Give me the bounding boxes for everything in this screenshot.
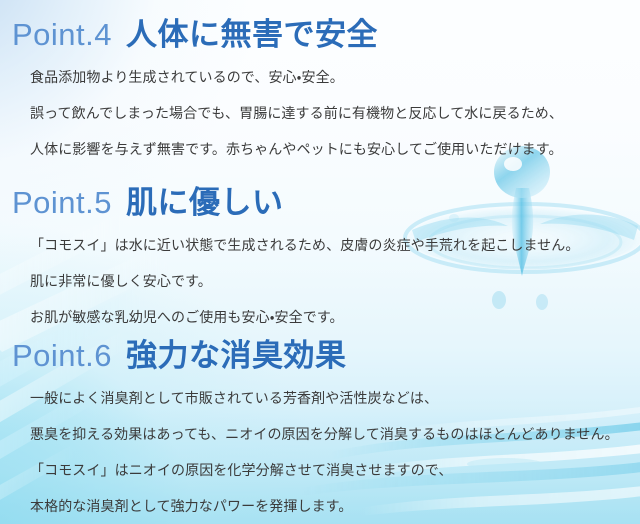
section-point5-body: 「コモスイ」は水に近い状態で生成されるため、皮膚の炎症や手荒れを起こしません。 … [0, 234, 640, 328]
section-point5-heading: Point.5 肌に優しい [0, 186, 640, 220]
section-point6-title: 強力な消臭効果 [126, 339, 347, 373]
body-line: 「コモスイ」はニオイの原因を化学分解させて消臭させますので、 [30, 459, 640, 481]
section-point6-body: 一般によく消臭剤として市販されている芳香剤や活性炭などは、 悪臭を抑える効果はあ… [0, 387, 640, 524]
content-root: Point.4 人体に無害で安全 食品添加物より生成されているので、安心・安全。… [0, 0, 640, 524]
section-point4-heading: Point.4 人体に無害で安全 [0, 18, 640, 52]
section-point6: Point.6 強力な消臭効果 一般によく消臭剤として市販されている芳香剤や活性… [0, 339, 640, 524]
section-point5: Point.5 肌に優しい 「コモスイ」は水に近い状態で生成されるため、皮膚の炎… [0, 186, 640, 342]
section-point4-title: 人体に無害で安全 [126, 18, 378, 52]
section-point6-label: Point.6 [12, 339, 112, 373]
body-line: 人体に影響を与えず無害です。赤ちゃんやペットにも安心してご使用いただけます。 [30, 138, 640, 160]
body-line: 誤って飲んでしまった場合でも、胃腸に達する前に有機物と反応して水に戻るため、 [30, 102, 640, 124]
section-point4: Point.4 人体に無害で安全 食品添加物より生成されているので、安心・安全。… [0, 18, 640, 174]
page-root: Point.4 人体に無害で安全 食品添加物より生成されているので、安心・安全。… [0, 0, 640, 524]
body-line: 食品添加物より生成されているので、安心・安全。 [30, 66, 640, 88]
body-line: 肌に非常に優しく安心です。 [30, 270, 640, 292]
section-point4-label: Point.4 [12, 18, 112, 52]
body-line: 悪臭を抑える効果はあっても、ニオイの原因を分解して消臭するものはほとんどありませ… [30, 423, 640, 445]
section-point6-heading: Point.6 強力な消臭効果 [0, 339, 640, 373]
body-line: 一般によく消臭剤として市販されている芳香剤や活性炭などは、 [30, 387, 640, 409]
section-point5-label: Point.5 [12, 186, 112, 220]
body-line: 本格的な消臭剤として強力なパワーを発揮します。 [30, 495, 640, 517]
section-point4-body: 食品添加物より生成されているので、安心・安全。 誤って飲んでしまった場合でも、胃… [0, 66, 640, 160]
body-line: 「コモスイ」は水に近い状態で生成されるため、皮膚の炎症や手荒れを起こしません。 [30, 234, 640, 256]
body-line: お肌が敏感な乳幼児へのご使用も安心・安全です。 [30, 306, 640, 328]
section-point5-title: 肌に優しい [126, 186, 284, 220]
